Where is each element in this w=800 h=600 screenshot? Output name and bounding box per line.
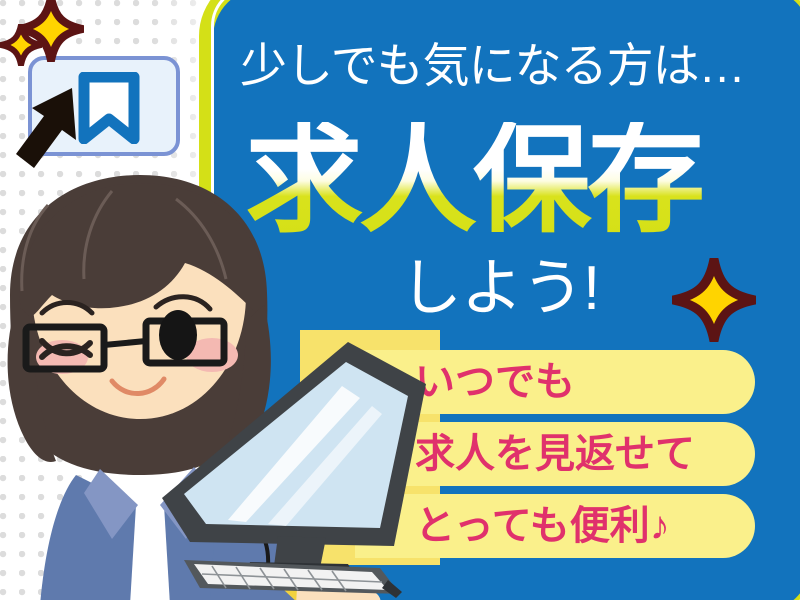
sparkle-small-top-left-icon — [0, 24, 42, 66]
feature-pill-2-label: 求人を見返せて — [415, 434, 695, 474]
sparkle-right-of-subline-icon — [672, 258, 756, 342]
banner-canvas: 少しでも気になる方は… 求人保存 しよう! いつでも 求人を見返せて とっても便… — [0, 0, 800, 600]
feature-pill-3-label: とっても便利♪ — [415, 506, 670, 546]
arrow-cursor-icon — [10, 82, 96, 174]
subline-text: しよう! — [400, 258, 599, 320]
desktop-computer-illustration — [150, 330, 440, 600]
kicker-text: 少しでも気になる方は… — [240, 42, 780, 89]
